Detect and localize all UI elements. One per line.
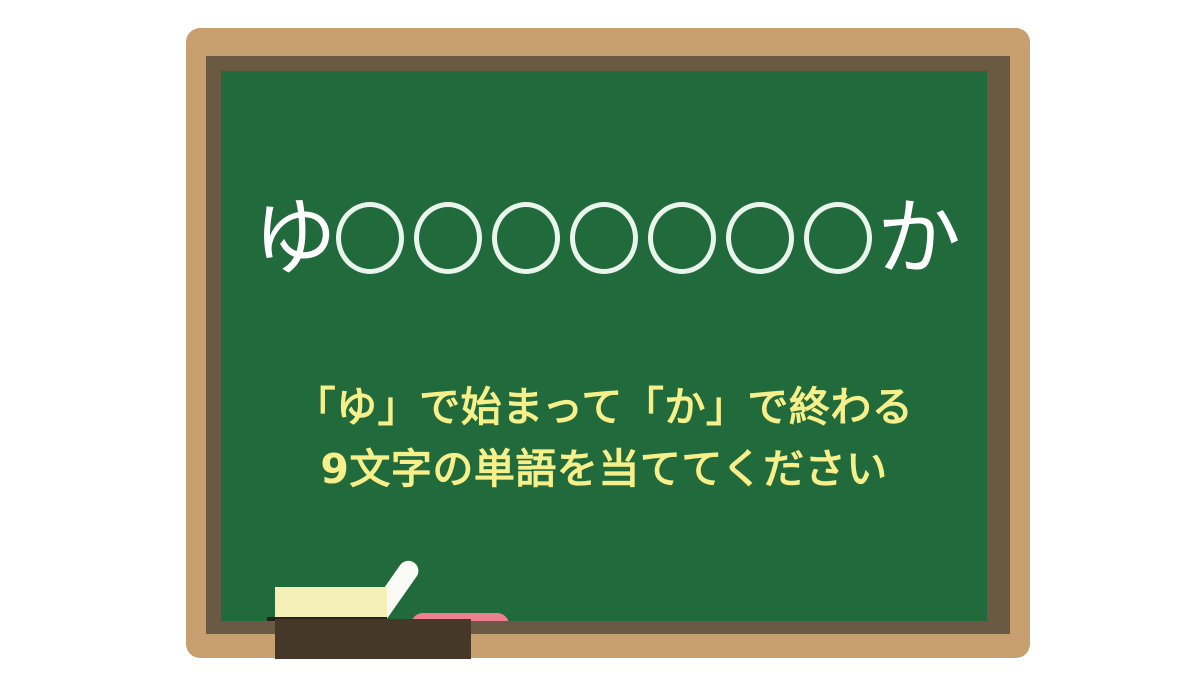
instruction-block: 「ゆ」で始まって「か」で終わる 9文字の単語を当ててください xyxy=(221,376,987,501)
instruction-line-2: 9文字の単語を当ててください xyxy=(221,438,987,500)
blank-circle-icon xyxy=(336,202,404,274)
blank-circle-icon xyxy=(414,202,482,274)
puzzle-character-row: ゆ か xyxy=(221,183,987,293)
scene-stage: ゆ か 「ゆ」で始まって「か」で終わる 9文字の単語を当ててください xyxy=(0,0,1200,700)
chalk-tray-body xyxy=(275,619,471,659)
blank-circle-icon xyxy=(648,202,716,274)
blank-circle-icon xyxy=(726,202,794,274)
puzzle-blank-slot-3[interactable] xyxy=(487,183,565,293)
puzzle-blank-slot-2[interactable] xyxy=(409,183,487,293)
puzzle-blank-slot-6[interactable] xyxy=(721,183,799,293)
puzzle-blank-slot-5[interactable] xyxy=(643,183,721,293)
chalk-tray-items xyxy=(275,567,535,621)
blank-circle-icon xyxy=(804,202,872,274)
instruction-line-1: 「ゆ」で始まって「か」で終わる xyxy=(221,376,987,438)
puzzle-blank-slot-7[interactable] xyxy=(799,183,877,293)
blackboard-surface: ゆ か 「ゆ」で始まって「か」で終わる 9文字の単語を当ててください xyxy=(221,71,987,621)
blank-circle-icon xyxy=(492,202,560,274)
puzzle-blank-slot-1[interactable] xyxy=(331,183,409,293)
blank-circle-icon xyxy=(570,202,638,274)
eraser-felt[interactable] xyxy=(275,587,387,617)
puzzle-first-character: ゆ xyxy=(253,196,331,280)
puzzle-last-character: か xyxy=(877,196,955,280)
chalk-tray-layer xyxy=(221,71,987,621)
puzzle-blank-slot-4[interactable] xyxy=(565,183,643,293)
